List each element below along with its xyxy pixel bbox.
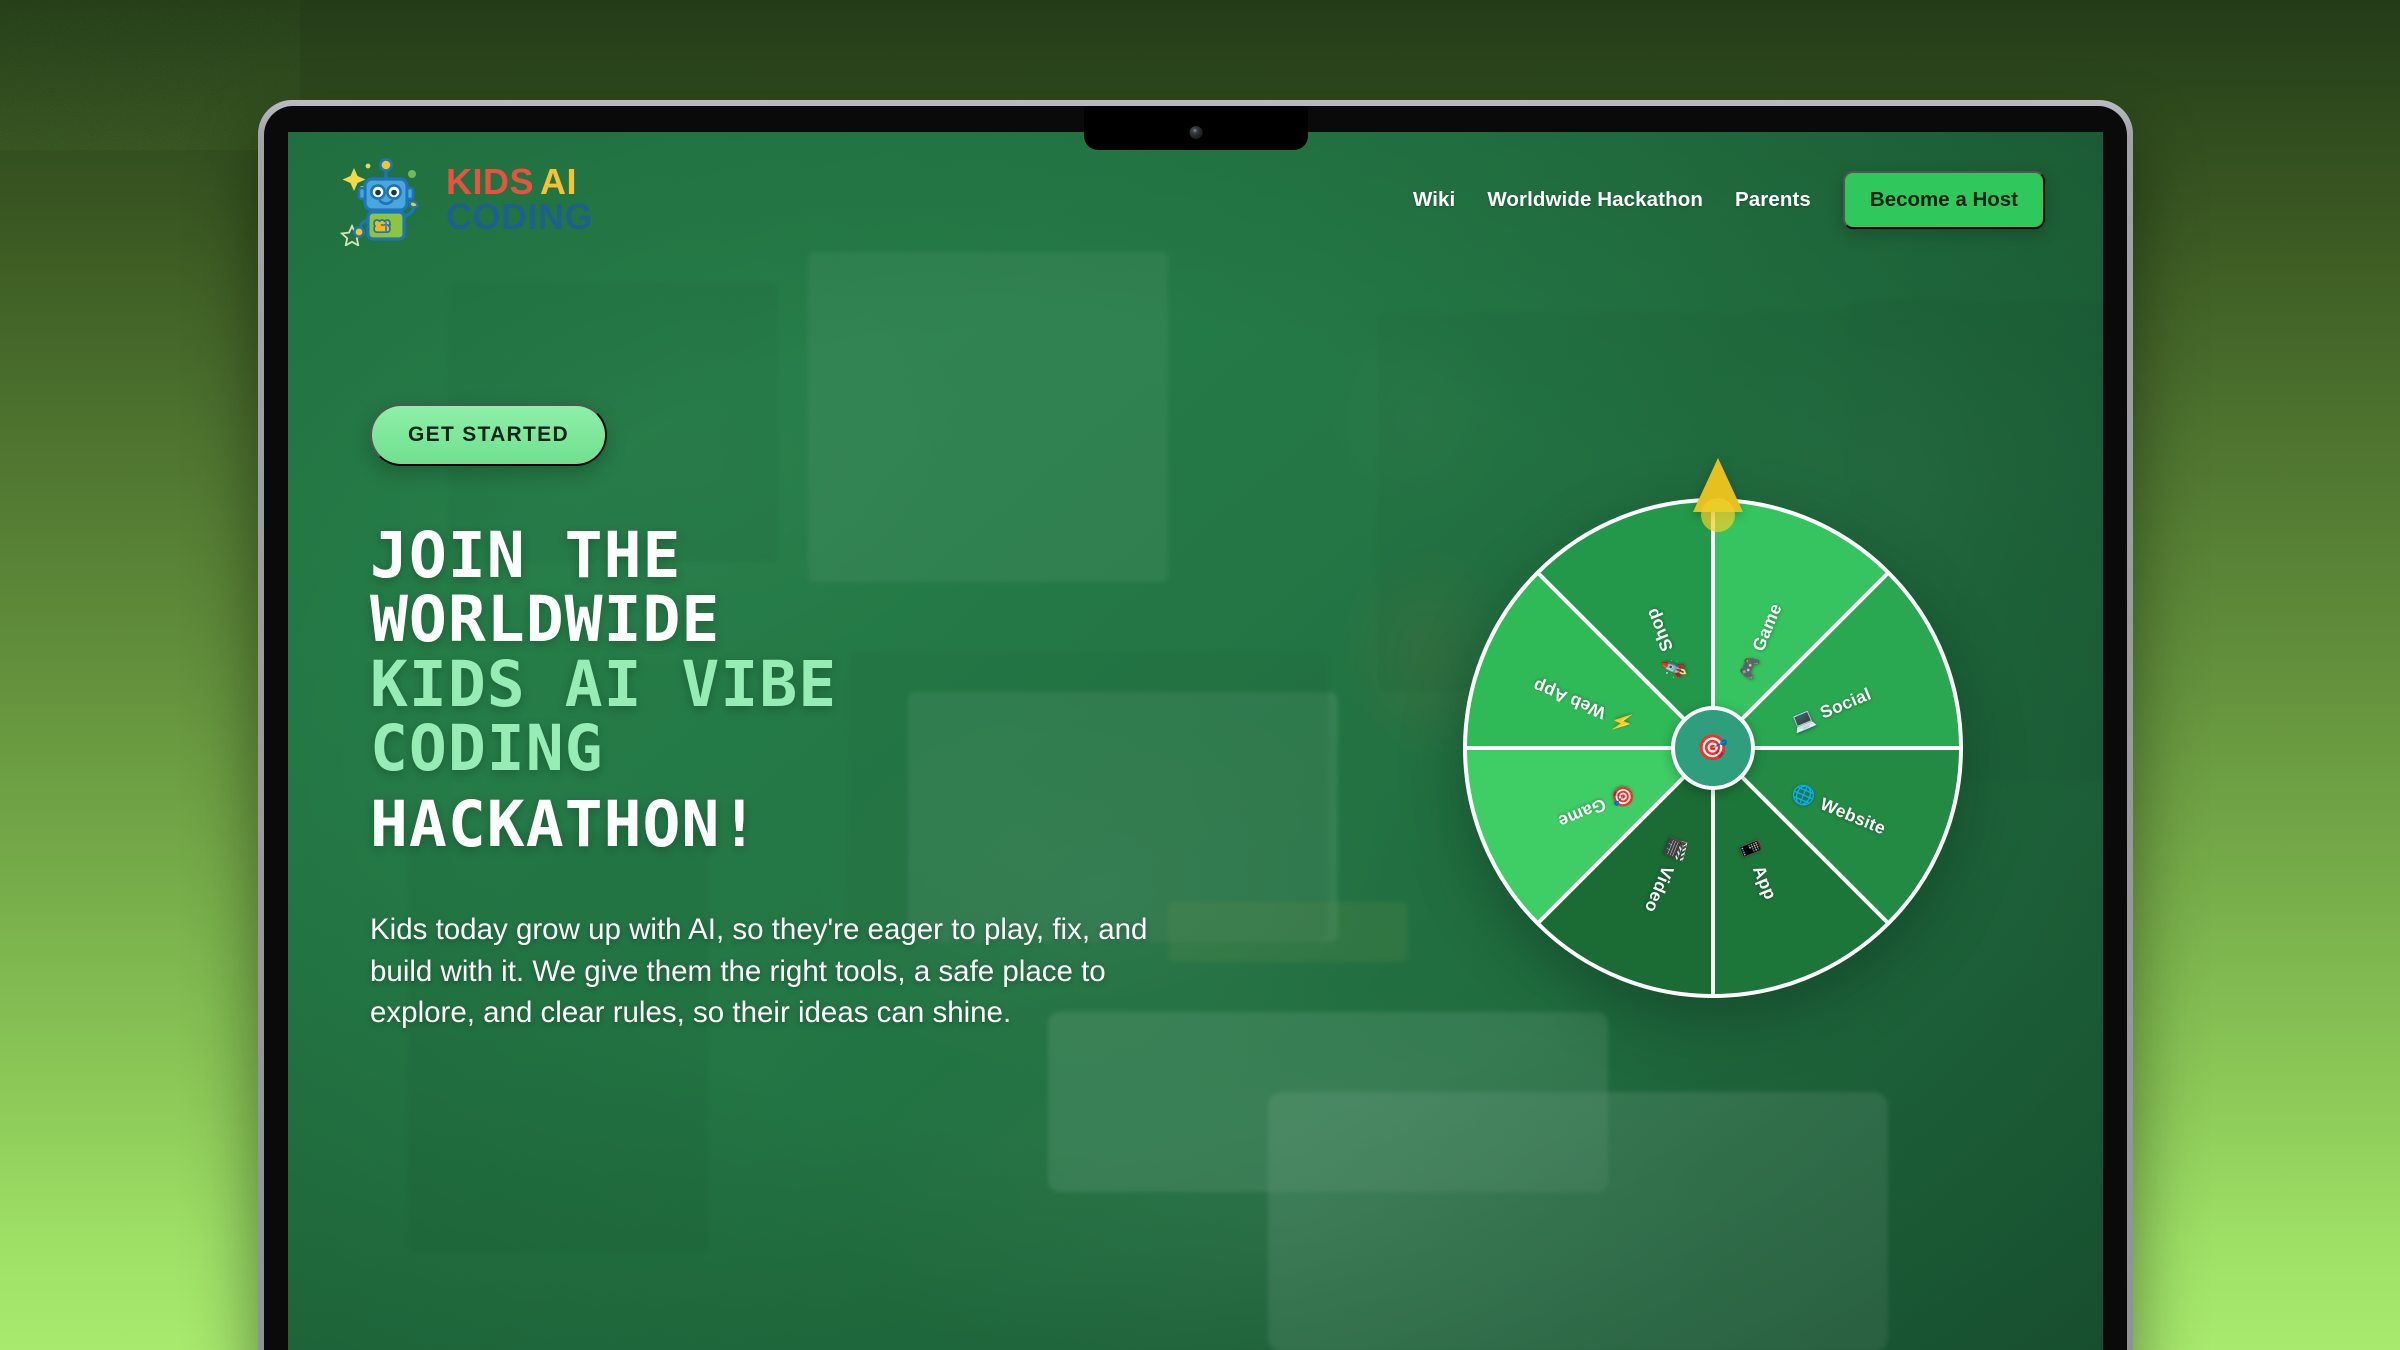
laptop-mockup: KIDSAI CODING Wiki Worldwide Hackathon P… [258,100,2133,1350]
background-noise-texture [0,0,300,150]
nav-link-parents[interactable]: Parents [1719,188,1827,212]
become-a-host-button[interactable]: Become a Host [1843,171,2045,229]
page-root: KIDSAI CODING Wiki Worldwide Hackathon P… [0,0,2400,1350]
hero-title-line-2: WORLDWIDE [370,588,1300,652]
hero-paragraph: Kids today grow up with AI, so they're e… [370,909,1170,1033]
hero-title-line-5: HACKATHON! [370,793,1300,857]
hero-title-line-3: KIDS AI VIBE [370,653,1300,717]
browser-viewport: KIDSAI CODING Wiki Worldwide Hackathon P… [288,132,2103,1350]
hero-title-line-1: JOIN THE [370,524,1300,588]
nav-link-wiki[interactable]: Wiki [1397,188,1471,212]
project-type-spinner[interactable]: 🎮Game💻Social🌐Website📱App🎬Video🎯Game⚡Web … [1438,432,1998,1032]
main-navigation: Wiki Worldwide Hackathon Parents Become … [1397,171,2045,229]
brand-logo[interactable]: KIDSAI CODING [340,154,593,246]
hero-section: GET STARTED JOIN THE WORLDWIDE KIDS AI V… [370,404,1300,1033]
hero-title-line-4: CODING [370,717,1300,781]
brand-wordmark: KIDSAI CODING [446,165,593,235]
get-started-button[interactable]: GET STARTED [370,404,607,466]
webcam-icon [1189,126,1202,139]
spinner-wheel[interactable]: 🎮Game💻Social🌐Website📱App🎬Video🎯Game⚡Web … [1463,498,1963,998]
laptop-notch [1084,106,1308,150]
page-title: JOIN THE WORLDWIDE KIDS AI VIBE CODING H… [370,524,1300,857]
site-header: KIDSAI CODING Wiki Worldwide Hackathon P… [288,132,2103,267]
brand-line-1: KIDSAI [446,165,593,200]
spinner-hub[interactable]: 🎯 [1671,706,1755,790]
nav-link-worldwide-hackathon[interactable]: Worldwide Hackathon [1471,188,1719,212]
brand-line-2: CODING [446,200,593,235]
robot-mascot-icon [340,154,432,246]
spinner-pointer-icon [1686,458,1750,530]
